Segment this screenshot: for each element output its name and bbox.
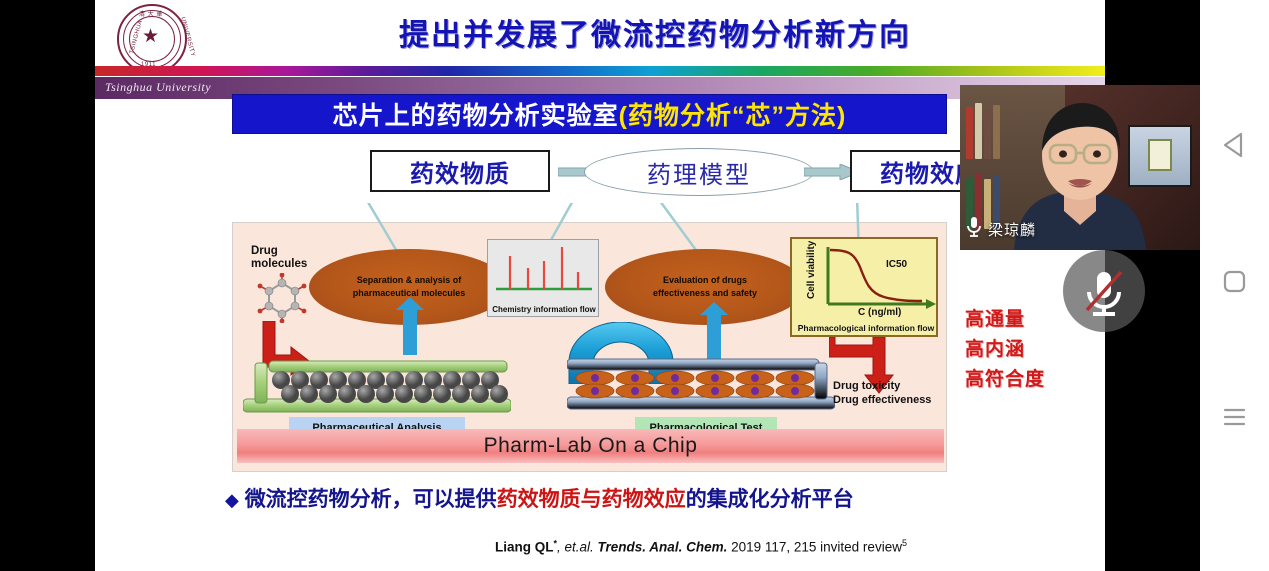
flow-box-substance: 药效物质 xyxy=(370,150,550,192)
info-flow-arrow-left xyxy=(403,309,417,355)
pharmacological-information-caption: Pharmacological information flow xyxy=(792,323,940,333)
pharm-lab-figure: Drug molecules xyxy=(232,222,947,472)
citation-authors: Liang QL xyxy=(495,540,554,555)
participant-name-badge: 梁琼麟 xyxy=(966,214,1036,244)
bullet-part-1: 微流控药物分析，可以提供 xyxy=(245,488,497,511)
pharmacological-information-panel: Cell viability (%) C (ng/ml) IC50 Pharma… xyxy=(790,237,938,337)
citation-superscript: 5 xyxy=(902,538,907,548)
citation-rest: 2019 117, 215 invited review xyxy=(727,540,902,555)
chemistry-information-caption: Chemistry information flow xyxy=(488,305,600,314)
rainbow-divider xyxy=(95,66,1105,76)
ic50-ylabel: Cell viability (%) xyxy=(806,241,817,299)
info-flow-arrow-right xyxy=(707,314,721,360)
pharmacological-test-chip xyxy=(567,357,835,411)
pharm-lab-on-chip-label: Pharm-Lab On a Chip xyxy=(484,434,698,458)
recents-lines-icon[interactable] xyxy=(1217,400,1251,434)
back-triangle-icon[interactable] xyxy=(1217,128,1251,162)
microphone-muted-icon xyxy=(1063,250,1145,332)
screen-root: 清 大 華 TSINGHUA UNIVERSITY 1911 提出并发展了微流控… xyxy=(0,0,1269,571)
bullet-diamond-icon: ◆ xyxy=(225,490,239,510)
section-title-yellow: (药物分析“芯”方法) xyxy=(619,96,847,132)
concept-flow-row: 药效物质 药理模型 药物效应 xyxy=(232,150,947,202)
keyword-3: 高符合度 xyxy=(965,365,1095,395)
flow-ellipse-model: 药理模型 xyxy=(584,148,814,196)
citation-journal: Trends. Anal. Chem. xyxy=(598,540,728,555)
mute-microphone-button[interactable] xyxy=(1063,250,1145,332)
presentation-slide: 清 大 華 TSINGHUA UNIVERSITY 1911 提出并发展了微流控… xyxy=(95,0,1105,571)
ic50-xlabel: C (ng/ml) xyxy=(858,307,901,317)
keyword-2: 高内涵 xyxy=(965,335,1095,365)
participant-name-label: 梁琼麟 xyxy=(988,219,1036,240)
home-square-icon[interactable] xyxy=(1217,264,1251,298)
flow-ellipse-model-label: 药理模型 xyxy=(647,155,751,190)
chromatogram-chart xyxy=(492,243,596,295)
citation-etal: , et.al. xyxy=(557,540,598,555)
tsinghua-seal-icon: 清 大 華 TSINGHUA UNIVERSITY 1911 xyxy=(109,4,195,74)
flow-box-substance-label: 药效物质 xyxy=(410,154,510,189)
bullet-part-2: 药效物质与药物效应 xyxy=(497,488,686,511)
bullet-part-3: 的集成化分析平台 xyxy=(686,488,854,511)
chemistry-information-panel: Chemistry information flow xyxy=(487,239,599,317)
drug-outcome-label: Drug toxicity Drug effectiveness xyxy=(833,379,931,407)
citation-line: Liang QL*, et.al. Trends. Anal. Chem. 20… xyxy=(495,538,1105,555)
ic50-annotation: IC50 xyxy=(886,259,908,270)
participant-video-tile[interactable]: 梁琼麟 xyxy=(960,85,1200,250)
conclusion-bullet: ◆ 微流控药物分析，可以提供药效物质与药物效应的集成化分析平台 xyxy=(225,485,1105,515)
drug-molecules-label: Drug molecules xyxy=(251,245,307,271)
android-nav-rail xyxy=(1200,0,1269,571)
slide-main-title: 提出并发展了微流控药物分析新方向 xyxy=(255,18,1055,54)
ic50-dose-response-chart: Cell viability (%) C (ng/ml) IC50 xyxy=(794,241,938,317)
university-band-label: Tsinghua University xyxy=(105,80,211,95)
section-title-bar: 芯片上的药物分析实验室 (药物分析“芯”方法) xyxy=(232,94,947,134)
pharm-lab-on-chip-bar: Pharm-Lab On a Chip xyxy=(237,429,944,463)
benzene-molecule-icon xyxy=(253,273,311,323)
section-title-white: 芯片上的药物分析实验室 xyxy=(333,96,619,132)
pharmaceutical-analysis-chip xyxy=(243,355,511,413)
microphone-icon xyxy=(966,216,982,242)
